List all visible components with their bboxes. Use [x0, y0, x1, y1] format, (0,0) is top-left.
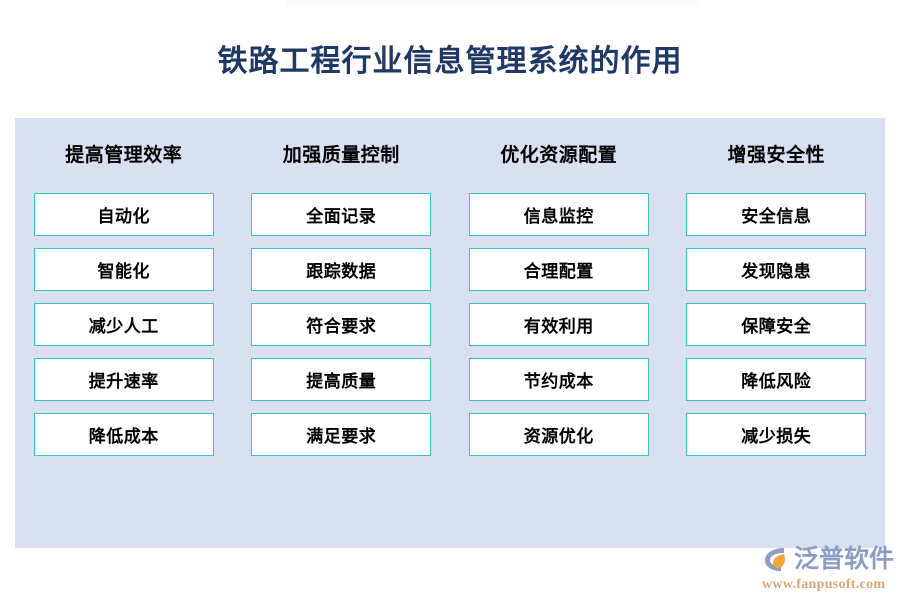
card-list: 全面记录 跟踪数据 符合要求 提高质量 满足要求: [251, 193, 431, 456]
card-item[interactable]: 跟踪数据: [251, 248, 431, 291]
column-header: 增强安全性: [727, 141, 825, 171]
card-list: 信息监控 合理配置 有效利用 节约成本 资源优化: [469, 193, 649, 456]
card-item[interactable]: 降低成本: [34, 413, 214, 456]
card-item[interactable]: 符合要求: [251, 303, 431, 346]
card-item[interactable]: 减少人工: [34, 303, 214, 346]
watermark-url-text: www.fanpusoft.com: [762, 577, 894, 593]
card-item[interactable]: 保障安全: [686, 303, 866, 346]
column-enhance-safety: 增强安全性 安全信息 发现隐患 保障安全 降低风险 减少损失: [668, 118, 886, 548]
column-improve-management-efficiency: 提高管理效率 自动化 智能化 减少人工 提升速率 降低成本: [15, 118, 233, 548]
card-item[interactable]: 有效利用: [469, 303, 649, 346]
card-item[interactable]: 提升速率: [34, 358, 214, 401]
column-optimize-resource-allocation: 优化资源配置 信息监控 合理配置 有效利用 节约成本 资源优化: [450, 118, 668, 548]
top-accent-band: [285, 0, 700, 7]
column-strengthen-quality-control: 加强质量控制 全面记录 跟踪数据 符合要求 提高质量 满足要求: [233, 118, 451, 548]
column-header: 提高管理效率: [65, 141, 182, 171]
watermark: 泛普软件 www.fanpusoft.com: [762, 542, 894, 594]
column-header: 加强质量控制: [283, 141, 400, 171]
card-item[interactable]: 合理配置: [469, 248, 649, 291]
card-item[interactable]: 智能化: [34, 248, 214, 291]
card-item[interactable]: 自动化: [34, 193, 214, 236]
watermark-brand-text: 泛普软件: [794, 544, 894, 574]
card-list: 安全信息 发现隐患 保障安全 降低风险 减少损失: [686, 193, 866, 456]
columns-container: 提高管理效率 自动化 智能化 减少人工 提升速率 降低成本 加强质量控制 全面记…: [15, 118, 885, 548]
card-item[interactable]: 满足要求: [251, 413, 431, 456]
card-item[interactable]: 安全信息: [686, 193, 866, 236]
fanpu-logo-icon: [762, 544, 792, 574]
column-header: 优化资源配置: [500, 141, 617, 171]
card-item[interactable]: 全面记录: [251, 193, 431, 236]
card-item[interactable]: 减少损失: [686, 413, 866, 456]
card-item[interactable]: 资源优化: [469, 413, 649, 456]
content-panel: 提高管理效率 自动化 智能化 减少人工 提升速率 降低成本 加强质量控制 全面记…: [15, 118, 885, 548]
card-item[interactable]: 信息监控: [469, 193, 649, 236]
card-list: 自动化 智能化 减少人工 提升速率 降低成本: [34, 193, 214, 456]
card-item[interactable]: 节约成本: [469, 358, 649, 401]
page-title: 铁路工程行业信息管理系统的作用: [0, 42, 900, 82]
watermark-brand-row: 泛普软件: [762, 542, 894, 576]
card-item[interactable]: 提高质量: [251, 358, 431, 401]
card-item[interactable]: 发现隐患: [686, 248, 866, 291]
card-item[interactable]: 降低风险: [686, 358, 866, 401]
